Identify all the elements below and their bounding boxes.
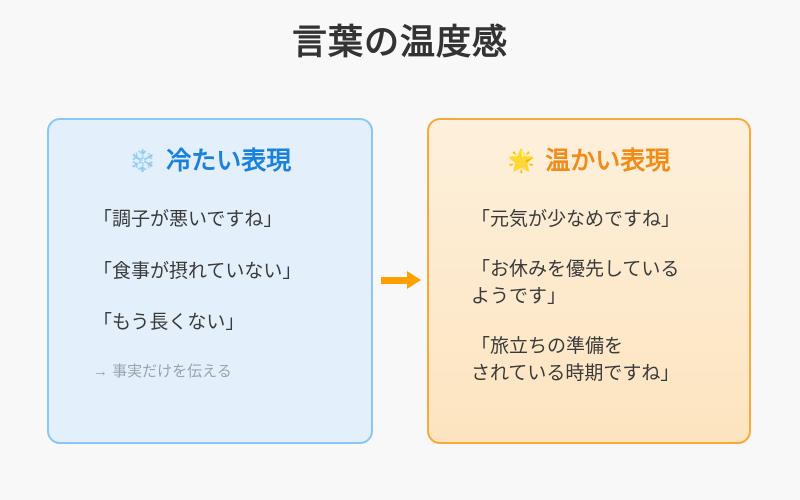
page-title: 言葉の温度感	[0, 22, 800, 64]
arrow-head	[407, 271, 421, 289]
warm-expressions-card: 🌟 温かい表現 「元気が少なめですね」 「お休みを優先している ようです」 「旅…	[427, 118, 751, 444]
warm-phrase: 「お休みを優先している ようです」	[471, 256, 749, 311]
cold-phrase: 「食事が摂れていない」	[93, 258, 371, 286]
cold-card-header: ❄️ 冷たい表現	[49, 146, 371, 176]
warm-card-body: 「元気が少なめですね」 「お休みを優先している ようです」 「旅立ちの準備を さ…	[429, 206, 749, 388]
slide-canvas: 言葉の温度感 ❄️ 冷たい表現 「調子が悪いですね」 「食事が摂れていない」 「…	[0, 0, 800, 500]
snowflake-icon: ❄️	[129, 150, 156, 172]
warm-card-heading: 温かい表現	[545, 146, 670, 176]
warm-phrase: 「旅立ちの準備を されている時期ですね」	[471, 333, 749, 388]
cold-card-note: → 事実だけを伝える	[49, 361, 371, 382]
arrow-right-icon	[381, 271, 421, 289]
cold-card-body: 「調子が悪いですね」 「食事が摂れていない」 「もう長くない」	[49, 206, 371, 337]
cold-card-heading: 冷たい表現	[166, 146, 291, 176]
cold-phrase: 「調子が悪いですね」	[93, 206, 371, 234]
arrow-shaft	[381, 277, 409, 284]
glowing-star-icon: 🌟	[508, 150, 535, 172]
warm-phrase: 「元気が少なめですね」	[471, 206, 749, 234]
warm-card-header: 🌟 温かい表現	[429, 146, 749, 176]
cold-expressions-card: ❄️ 冷たい表現 「調子が悪いですね」 「食事が摂れていない」 「もう長くない」…	[47, 118, 373, 444]
cold-phrase: 「もう長くない」	[93, 309, 371, 337]
